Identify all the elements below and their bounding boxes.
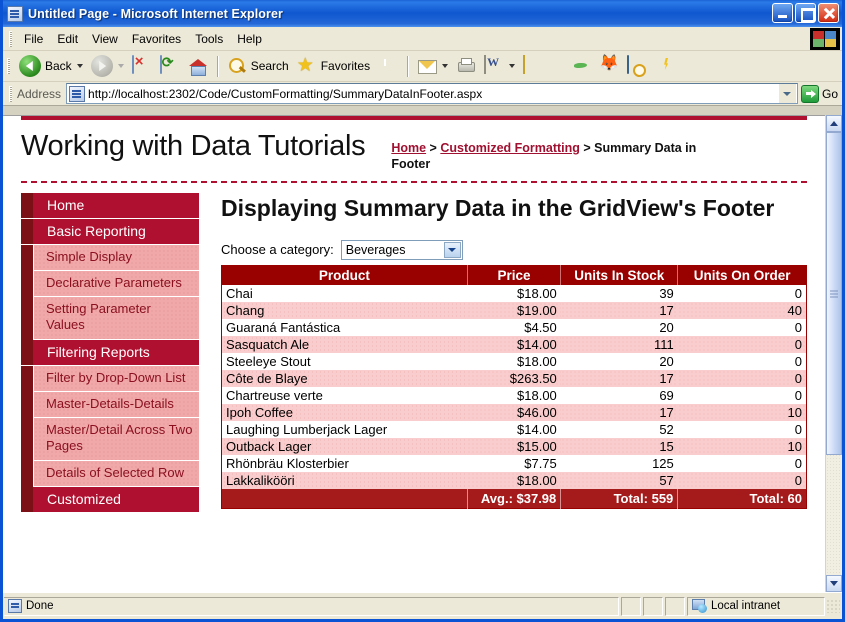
browser-viewport: Working with Data Tutorials Home > Custo… <box>3 115 842 592</box>
status-pane-3 <box>643 597 663 616</box>
category-label: Choose a category: <box>221 242 334 257</box>
sidebar-subgroup-filtering-reports: Filter by Drop-Down List Master-Details-… <box>21 366 199 487</box>
cell-units-in-stock: 17 <box>561 302 678 319</box>
sidebar-label-basic-reporting: Basic Reporting <box>47 223 146 239</box>
table-row: Steeleye Stout $18.00 20 0 <box>222 353 807 370</box>
cell-product: Chang <box>222 302 468 319</box>
refresh-icon <box>160 56 180 76</box>
page-body: Home Basic Reporting Simple Display Decl… <box>3 183 825 519</box>
category-filter-row: Choose a category: Beverages <box>221 240 807 260</box>
local-intranet-zone-icon <box>692 599 707 613</box>
search-icon <box>227 56 247 76</box>
breadcrumb-separator-2: > <box>580 141 594 155</box>
status-text-pane: Done <box>4 597 619 616</box>
sidebar-label-filtering-reports: Filtering Reports <box>47 344 150 360</box>
navigation-toolbar: Back Search ★ Favorites <box>3 51 842 82</box>
table-row: Outback Lager $15.00 15 10 <box>222 438 807 455</box>
sidebar-label-declarative-parameters: Declarative Parameters <box>46 275 182 290</box>
address-input[interactable]: http://localhost:2302/Code/CustomFormatt… <box>66 83 798 104</box>
cell-units-on-order: 0 <box>678 285 807 302</box>
table-row: Chai $18.00 39 0 <box>222 285 807 302</box>
table-row: Guaraná Fantástica $4.50 20 0 <box>222 319 807 336</box>
cell-units-in-stock: 20 <box>561 353 678 370</box>
sidebar-indent-bar <box>21 245 33 340</box>
window-controls <box>772 3 839 23</box>
grid-column-header-product[interactable]: Product <box>222 265 468 285</box>
cell-units-in-stock: 17 <box>561 404 678 421</box>
sidebar-item-filtering-reports[interactable]: Filtering Reports <box>21 340 199 365</box>
table-row: Lakkalikööri $18.00 57 0 <box>222 472 807 489</box>
toolbar-spacer <box>552 56 562 77</box>
table-row: Sasquatch Ale $14.00 111 0 <box>222 336 807 353</box>
address-label: Address <box>17 87 61 101</box>
sidebar-label-setting-parameter-values: Setting Parameter Values <box>46 301 151 332</box>
breadcrumb-link-home[interactable]: Home <box>391 141 426 155</box>
search-label: Search <box>251 59 289 73</box>
window-title: Untitled Page - Microsoft Internet Explo… <box>28 7 283 21</box>
back-icon <box>19 55 41 77</box>
msn-icon: 🦊 <box>599 56 619 76</box>
cell-price: $18.00 <box>467 472 561 489</box>
messenger-button[interactable] <box>567 53 595 79</box>
back-history-chevron-down-icon[interactable] <box>77 64 83 68</box>
cell-product: Guaraná Fantástica <box>222 319 468 336</box>
cell-units-on-order: 40 <box>678 302 807 319</box>
menu-item-view[interactable]: View <box>85 29 125 49</box>
grid-summary-row: Avg.: $37.98 Total: 559 Total: 60 <box>222 489 807 509</box>
history-icon <box>378 56 398 76</box>
cell-units-on-order: 0 <box>678 319 807 336</box>
scroll-down-button[interactable] <box>826 575 842 592</box>
cell-units-on-order: 10 <box>678 404 807 421</box>
cell-units-in-stock: 125 <box>561 455 678 472</box>
page-favicon-icon <box>69 86 85 102</box>
sidebar-item-basic-reporting[interactable]: Basic Reporting <box>21 219 199 244</box>
cell-product: Rhönbräu Klosterbier <box>222 455 468 472</box>
status-text: Done <box>26 600 54 612</box>
sidebar-item-details-of-selected-row[interactable]: Details of Selected Row <box>33 461 199 487</box>
main-content: Displaying Summary Data in the GridView'… <box>199 183 825 519</box>
address-url-text: http://localhost:2302/Code/CustomFormatt… <box>88 87 779 101</box>
sidebar-indent-bar-2 <box>21 366 33 487</box>
sidebar-label-details-of-selected-row: Details of Selected Row <box>46 465 184 480</box>
sidebar-item-filter-by-drop-down-list[interactable]: Filter by Drop-Down List <box>33 366 199 392</box>
sidebar-item-master-details-details[interactable]: Master-Details-Details <box>33 392 199 418</box>
cell-units-in-stock: 20 <box>561 319 678 336</box>
close-button[interactable] <box>818 3 839 23</box>
page-status-icon <box>8 599 22 613</box>
cell-units-in-stock: 57 <box>561 472 678 489</box>
cell-product: Steeleye Stout <box>222 353 468 370</box>
grid-column-header-units-in-stock[interactable]: Units In Stock <box>561 265 678 285</box>
breadcrumb: Home > Customized Formatting > Summary D… <box>391 126 721 173</box>
breadcrumb-link-section[interactable]: Customized Formatting <box>440 141 580 155</box>
notes-icon <box>523 56 543 76</box>
cell-product: Lakkalikööri <box>222 472 468 489</box>
windows-flag-logo-icon <box>810 28 840 50</box>
footer-cell-price-average: Avg.: $37.98 <box>467 489 561 509</box>
refresh-button[interactable] <box>156 53 184 79</box>
sidebar-label-simple-display: Simple Display <box>46 249 132 264</box>
back-button[interactable]: Back <box>15 53 87 79</box>
forward-icon <box>91 55 113 77</box>
cell-price: $19.00 <box>467 302 561 319</box>
toolbar-grip-handle[interactable] <box>7 58 10 74</box>
forward-button[interactable] <box>87 53 128 79</box>
table-row: Ipoh Coffee $46.00 17 10 <box>222 404 807 421</box>
discuss-button[interactable] <box>623 53 651 79</box>
cell-product: Sasquatch Ale <box>222 336 468 353</box>
sidebar-label-home: Home <box>47 197 84 213</box>
menu-label-view: View <box>92 32 118 46</box>
menu-label-help: Help <box>237 32 262 46</box>
site-title: Working with Data Tutorials <box>21 126 365 163</box>
window-resize-handle[interactable] <box>826 599 840 613</box>
grid-footer: Avg.: $37.98 Total: 559 Total: 60 <box>222 489 807 509</box>
sidebar-item-customized[interactable]: Customized <box>21 487 199 512</box>
menu-label-file: File <box>24 32 43 46</box>
cell-price: $4.50 <box>467 319 561 336</box>
security-zone-label: Local intranet <box>711 600 780 612</box>
grid-column-header-price[interactable]: Price <box>467 265 561 285</box>
toolbar-divider <box>217 56 218 77</box>
back-label: Back <box>45 59 72 73</box>
status-pane-2 <box>621 597 641 616</box>
cell-units-in-stock: 69 <box>561 387 678 404</box>
grid-column-header-units-on-order[interactable]: Units On Order <box>678 265 807 285</box>
maximize-button[interactable] <box>795 3 816 23</box>
stop-icon <box>132 56 152 76</box>
menu-item-file[interactable]: File <box>17 29 50 49</box>
notes-button[interactable] <box>519 53 547 79</box>
sidebar-item-master-detail-across-two-pages[interactable]: Master/Detail Across Two Pages <box>33 418 199 461</box>
cell-units-in-stock: 17 <box>561 370 678 387</box>
cell-product: Ipoh Coffee <box>222 404 468 421</box>
web-page: Working with Data Tutorials Home > Custo… <box>3 115 825 592</box>
menu-item-favorites[interactable]: Favorites <box>125 29 188 49</box>
status-pane-4 <box>665 597 685 616</box>
go-arrow-icon <box>801 85 819 103</box>
search-button[interactable]: Search <box>223 53 293 79</box>
cell-units-in-stock: 39 <box>561 285 678 302</box>
menu-grip-handle[interactable] <box>9 31 12 47</box>
cell-units-on-order: 10 <box>678 438 807 455</box>
cell-units-in-stock: 52 <box>561 421 678 438</box>
minimize-button[interactable] <box>772 3 793 23</box>
cell-units-on-order: 0 <box>678 387 807 404</box>
cell-units-on-order: 0 <box>678 353 807 370</box>
sidebar-item-home[interactable]: Home <box>21 193 199 218</box>
scroll-up-button[interactable] <box>826 115 842 132</box>
sidebar-item-setting-parameter-values[interactable]: Setting Parameter Values <box>33 297 199 340</box>
cell-units-on-order: 0 <box>678 472 807 489</box>
chevron-down-icon[interactable] <box>444 242 461 258</box>
cell-price: $14.00 <box>467 336 561 353</box>
print-icon <box>456 56 476 76</box>
table-row: Laughing Lumberjack Lager $14.00 52 0 <box>222 421 807 438</box>
mail-icon <box>417 56 437 76</box>
menu-bar: File Edit View Favorites Tools Help <box>3 27 842 51</box>
menu-label-tools: Tools <box>195 32 223 46</box>
messenger-globe-icon <box>571 56 591 76</box>
address-grip-handle[interactable] <box>9 86 12 102</box>
favorites-star-icon: ★ <box>297 56 317 76</box>
cell-price: $263.50 <box>467 370 561 387</box>
cell-units-on-order: 0 <box>678 370 807 387</box>
cell-units-on-order: 0 <box>678 455 807 472</box>
cell-price: $15.00 <box>467 438 561 455</box>
go-button[interactable]: Go <box>798 85 842 103</box>
menu-label-edit: Edit <box>57 32 78 46</box>
sidebar-navigation: Home Basic Reporting Simple Display Decl… <box>3 183 199 519</box>
matrix-icon <box>655 56 675 76</box>
mail-chevron-down-icon[interactable] <box>442 64 448 68</box>
internet-explorer-window: Untitled Page - Microsoft Internet Explo… <box>0 0 845 622</box>
sidebar-item-declarative-parameters[interactable]: Declarative Parameters <box>33 271 199 297</box>
scrollbar-thumb[interactable] <box>826 132 842 455</box>
sidebar-label-master-detail-across-two-pages: Master/Detail Across Two Pages <box>46 422 192 453</box>
msn-button[interactable]: 🦊 <box>595 53 623 79</box>
table-row: Rhönbräu Klosterbier $7.75 125 0 <box>222 455 807 472</box>
matrix-button[interactable] <box>651 53 679 79</box>
cell-price: $46.00 <box>467 404 561 421</box>
cell-price: $18.00 <box>467 353 561 370</box>
forward-history-chevron-down-icon[interactable] <box>118 64 124 68</box>
menu-item-help[interactable]: Help <box>230 29 269 49</box>
mail-button[interactable] <box>413 53 452 79</box>
cell-units-in-stock: 15 <box>561 438 678 455</box>
footer-cell-order-total: Total: 60 <box>678 489 807 509</box>
window-titlebar: Untitled Page - Microsoft Internet Explo… <box>3 0 842 27</box>
home-icon <box>188 56 208 76</box>
cell-units-on-order: 0 <box>678 421 807 438</box>
address-chevron-down-icon[interactable] <box>779 84 796 103</box>
page-title: Displaying Summary Data in the GridView'… <box>221 195 807 222</box>
edit-in-word-button[interactable] <box>480 53 519 79</box>
menu-label-favorites: Favorites <box>132 32 181 46</box>
edit-chevron-down-icon[interactable] <box>509 64 515 68</box>
edit-word-icon <box>484 56 504 76</box>
cell-product: Outback Lager <box>222 438 468 455</box>
cell-product: Laughing Lumberjack Lager <box>222 421 468 438</box>
cell-product: Côte de Blaye <box>222 370 468 387</box>
print-button[interactable] <box>452 53 480 79</box>
sidebar-label-master-details-details: Master-Details-Details <box>46 396 174 411</box>
cell-price: $14.00 <box>467 421 561 438</box>
status-bar: Done Local intranet <box>3 592 842 619</box>
cell-price: $18.00 <box>467 285 561 302</box>
grid-header-row: Product Price Units In Stock Units On Or… <box>222 265 807 285</box>
footer-cell-product <box>222 489 468 509</box>
table-row: Chang $19.00 17 40 <box>222 302 807 319</box>
sidebar-item-simple-display[interactable]: Simple Display <box>33 245 199 271</box>
vertical-scrollbar[interactable] <box>825 115 842 592</box>
menu-item-tools[interactable]: Tools <box>188 29 230 49</box>
cell-product: Chai <box>222 285 468 302</box>
security-zone-pane[interactable]: Local intranet <box>687 597 825 616</box>
sidebar-label-customized: Customized <box>47 491 121 507</box>
sidebar-label-filter-by-drop-down-list: Filter by Drop-Down List <box>46 370 185 385</box>
scrollbar-track[interactable] <box>826 132 842 575</box>
favorites-label: Favorites <box>321 59 370 73</box>
sidebar-subgroup-basic-reporting: Simple Display Declarative Parameters Se… <box>21 245 199 340</box>
category-selected-value: Beverages <box>346 243 406 257</box>
page-header: Working with Data Tutorials Home > Custo… <box>21 120 807 183</box>
toolbar-divider-2 <box>407 56 408 77</box>
table-row: Chartreuse verte $18.00 69 0 <box>222 387 807 404</box>
cell-price: $7.75 <box>467 455 561 472</box>
cell-product: Chartreuse verte <box>222 387 468 404</box>
home-button[interactable] <box>184 53 212 79</box>
category-select[interactable]: Beverages <box>341 240 463 260</box>
breadcrumb-separator-1: > <box>426 141 440 155</box>
stop-button[interactable] <box>128 53 156 79</box>
cell-units-on-order: 0 <box>678 336 807 353</box>
cell-price: $18.00 <box>467 387 561 404</box>
ie-page-icon <box>7 6 23 22</box>
favorites-button[interactable]: ★ Favorites <box>293 53 374 79</box>
grid-body: Chai $18.00 39 0 Chang $19.00 17 40 <box>222 285 807 489</box>
history-button[interactable] <box>374 53 402 79</box>
table-row: Côte de Blaye $263.50 17 0 <box>222 370 807 387</box>
cell-units-in-stock: 111 <box>561 336 678 353</box>
products-grid: Product Price Units In Stock Units On Or… <box>221 265 807 509</box>
discuss-icon <box>627 56 647 76</box>
go-label: Go <box>822 87 838 101</box>
footer-cell-stock-total: Total: 559 <box>561 489 678 509</box>
address-bar: Address http://localhost:2302/Code/Custo… <box>3 82 842 106</box>
menu-item-edit[interactable]: Edit <box>50 29 85 49</box>
